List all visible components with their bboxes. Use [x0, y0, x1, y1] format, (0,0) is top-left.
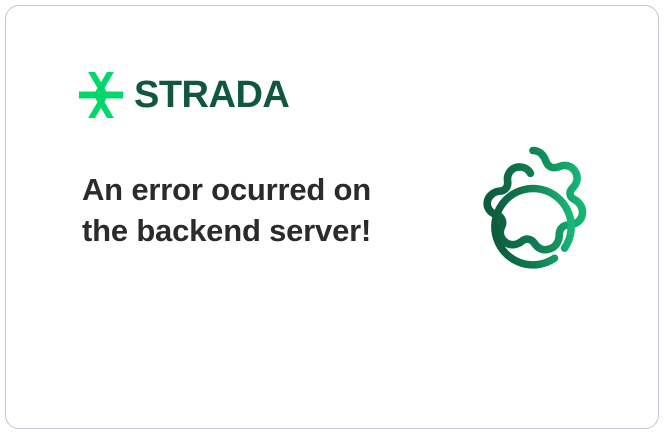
error-card: STRADA An error ocurred on the backend s…	[5, 5, 659, 429]
brand-wordmark: STRADA	[134, 76, 289, 114]
brand-lockup: STRADA	[78, 72, 289, 118]
strada-asterisk-icon	[78, 72, 124, 118]
gear-icon	[450, 142, 616, 308]
error-message: An error ocurred on the backend server!	[82, 169, 382, 251]
